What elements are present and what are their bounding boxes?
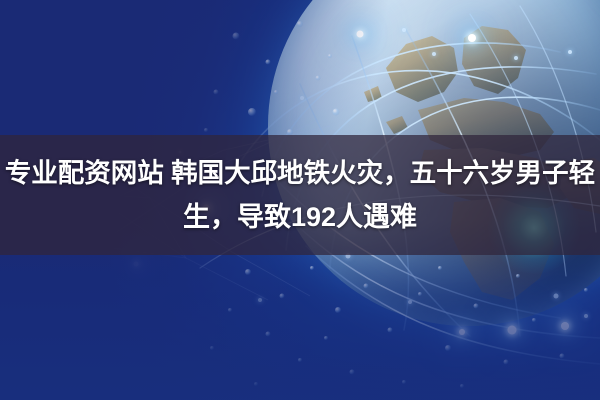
headline-block: 专业配资网站 韩国大邱地铁火灾，五十六岁男子轻 生，导致192人遇难 <box>0 135 600 255</box>
news-banner-image: 专业配资网站 韩国大邱地铁火灾，五十六岁男子轻 生，导致192人遇难 <box>0 0 600 400</box>
headline-line-1: 专业配资网站 韩国大邱地铁火灾，五十六岁男子轻 <box>5 152 595 194</box>
headline-line-2: 生，导致192人遇难 <box>183 196 417 238</box>
